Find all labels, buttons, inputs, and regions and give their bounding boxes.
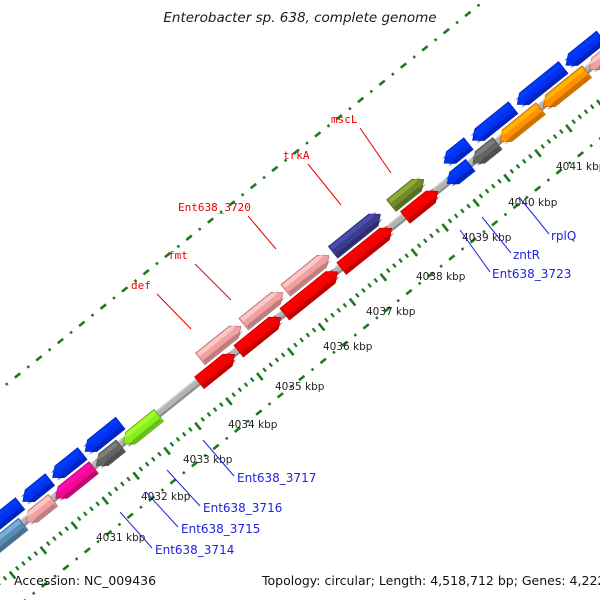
label-leader-line [195,264,231,300]
ruler-tick-minor [585,110,588,114]
gene-label[interactable]: Ent638_3714 [155,543,234,557]
ruler-tick-minor [560,130,563,134]
ruler-tick-minor [115,487,118,491]
ruler-tick-major [195,423,201,430]
ruler-tick-minor [201,418,204,422]
ruler-tick-minor [436,229,439,233]
ruler-tick-minor [467,204,470,208]
ruler-tick-minor [591,105,594,109]
gene-label[interactable]: trkA [283,149,310,162]
ruler-tick-minor [387,269,390,273]
ruler-tick-major [350,299,356,306]
genome-map-svg[interactable]: Enterobacter sp. 638, complete genome 40… [0,0,600,600]
gene-label[interactable]: Ent638_3720 [178,201,251,214]
axis-tick-labels: 4031 kbp4032 kbp4033 kbp4034 kbp4035 kbp… [96,161,600,544]
ruler-tick-minor [96,502,99,506]
ruler-tick-major [381,274,387,281]
ruler-tick-minor [170,443,173,447]
ruler-tick-major [257,373,263,380]
ruler-tick-major [226,398,232,405]
ruler-tick-minor [109,492,112,496]
ruler-tick-minor [306,333,309,337]
ruler-tick-major [504,174,510,181]
ruler-tick-minor [313,328,316,332]
ruler-tick-major [288,348,294,355]
ruler-tick-minor [331,313,334,317]
ruler-tick-minor [16,567,19,571]
ruler-tick-minor [498,179,501,183]
ruler-tick-minor [146,462,149,466]
ruler-tick-minor [578,115,581,119]
gene-label[interactable]: rplQ [551,229,576,243]
accession-text: Accession: NC_009436 [14,573,156,588]
ruler-tick-minor [189,428,192,432]
gene-label[interactable]: zntR [513,248,540,262]
ruler-tick-minor [523,160,526,164]
ruler-tick-minor [510,170,513,174]
ruler-tick-minor [486,189,489,193]
ruler-tick-minor [424,239,427,243]
ruler-tick-major [412,249,418,256]
ruler-tick-major [133,472,139,479]
ruler-tick-minor [34,552,37,556]
label-leader-line [308,164,341,205]
axis-tick-label: 4034 kbp [228,419,278,431]
ruler-tick-minor [480,194,483,198]
ruler-tick-major [535,150,541,157]
gene-label[interactable]: Ent638_3717 [237,471,316,485]
ruler-tick-minor [461,209,464,213]
axis-tick-label: 4035 kbp [275,381,325,393]
gene-label[interactable]: Ent638_3715 [181,522,260,536]
axis-tick-label: 4040 kbp [508,197,558,209]
ruler-tick-minor [127,477,130,481]
gene-label[interactable]: def [131,279,151,292]
axis-tick-label: 4037 kbp [366,306,416,318]
genome-summary-text: Topology: circular; Length: 4,518,712 bp… [261,573,600,588]
ruler-tick-minor [276,358,279,362]
ruler-tick-minor [541,145,544,149]
ruler-tick-minor [269,363,272,367]
ruler-tick-minor [572,120,575,124]
ruler-tick-minor [177,438,180,442]
ruler-tick-major [566,125,572,132]
axis-tick-label: 4041 kbp [556,161,600,173]
ruler-tick-minor [344,304,347,308]
ruler-tick-minor [362,289,365,293]
ruler-tick-minor [53,537,56,541]
ruler-tick-major [442,224,448,231]
ruler-tick-minor [418,244,421,248]
axis-tick-label: 4039 kbp [462,232,512,244]
ruler-tick-minor [356,294,359,298]
ruler-tick-minor [90,507,93,511]
ruler-tick-minor [59,532,62,536]
ruler-tick-major [164,447,170,454]
ruler-tick-minor [455,214,458,218]
ruler-tick-minor [4,577,7,581]
ruler-tick-major [72,522,78,529]
diagonal-map-group [0,0,600,600]
ruler-tick-minor [22,562,25,566]
ruler-tick-minor [251,378,254,382]
ruler-tick-minor [374,279,377,283]
ruler-tick-minor [208,413,211,417]
ruler-tick-minor [28,557,31,561]
ruler-tick-minor [282,353,285,357]
ruler-tick-major [319,323,325,330]
gene-body[interactable] [119,410,164,450]
ruler-tick-minor [47,542,50,546]
label-leader-line [157,294,191,329]
ruler-tick-minor [517,165,520,169]
ruler-tick-minor [529,155,532,159]
axis-tick-label: 4032 kbp [141,491,191,503]
ruler-tick-minor [78,517,81,521]
ruler-tick-minor [399,259,402,263]
axis-tick-label: 4033 kbp [183,454,233,466]
ruler-tick-minor [393,264,396,268]
ruler-tick-minor [405,254,408,258]
gene-label[interactable]: Ent638_3723 [492,267,571,281]
ruler-tick-minor [158,452,161,456]
ruler-tick-major [102,497,108,504]
ruler-tick-minor [245,383,248,387]
ruler-tick-minor [121,482,124,486]
ruler-tick-minor [140,467,143,471]
gene-feature[interactable] [119,410,164,450]
ruler-tick-minor [337,309,340,313]
ruler-tick-minor [325,318,328,322]
ruler-tick-minor [214,408,217,412]
ruler-tick-minor [294,343,297,347]
ruler-tick-minor [449,219,452,223]
ruler-tick-minor [220,403,223,407]
ruler-tick-minor [300,338,303,342]
ruler-tick-minor [492,184,495,188]
genome-viewer-canvas: Enterobacter sp. 638, complete genome 40… [0,0,600,600]
ruler-tick-major [473,199,479,206]
ruler-tick-minor [152,457,155,461]
ruler-tick-major [41,547,47,554]
ruler-tick-minor [263,368,266,372]
ruler-tick-minor [65,527,68,531]
gene-label[interactable]: mscL [331,113,358,126]
ruler-tick-minor [84,512,87,516]
ruler-tick-minor [548,140,551,144]
gene-label[interactable]: Ent638_3716 [203,501,282,515]
ruler-tick-minor [183,433,186,437]
label-leader-line [360,128,391,173]
axis-tick-label: 4031 kbp [96,532,146,544]
page-title: Enterobacter sp. 638, complete genome [163,10,436,26]
gene-label[interactable]: fmt [168,249,188,262]
ruler-tick-minor [554,135,557,139]
axis-tick-label: 4036 kbp [323,341,373,353]
label-leader-line [248,216,276,249]
ruler-tick-minor [430,234,433,238]
axis-tick-label: 4038 kbp [416,271,466,283]
ruler-tick-minor [238,388,241,392]
ruler-tick-minor [232,393,235,397]
ruler-tick-minor [368,284,371,288]
